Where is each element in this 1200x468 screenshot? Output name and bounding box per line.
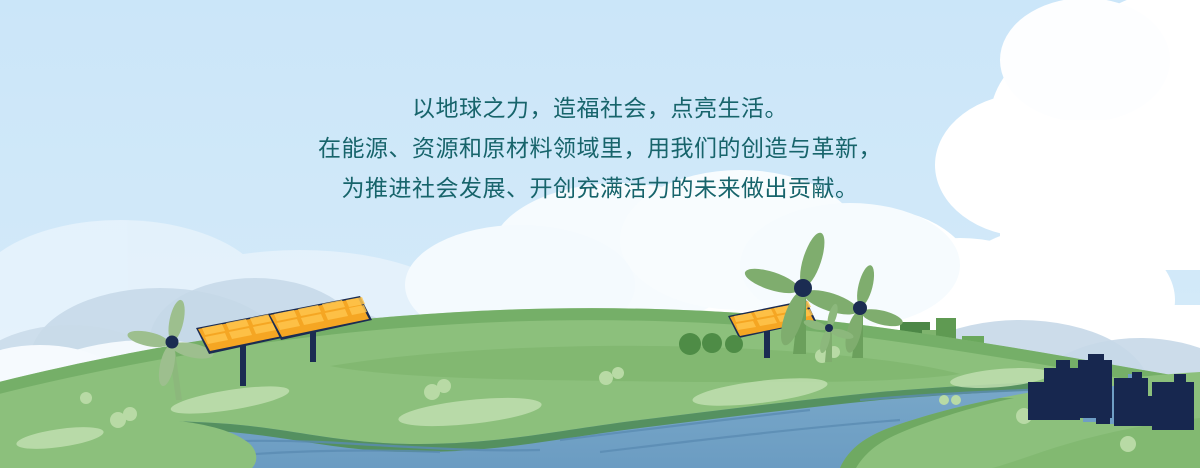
eco-landscape-banner: 以地球之力，造福社会，点亮生活。 在能源、资源和原材料领域里，用我们的创造与革新…	[0, 0, 1200, 468]
landscape-illustration	[0, 0, 1200, 468]
bush-cluster-right	[679, 333, 743, 355]
